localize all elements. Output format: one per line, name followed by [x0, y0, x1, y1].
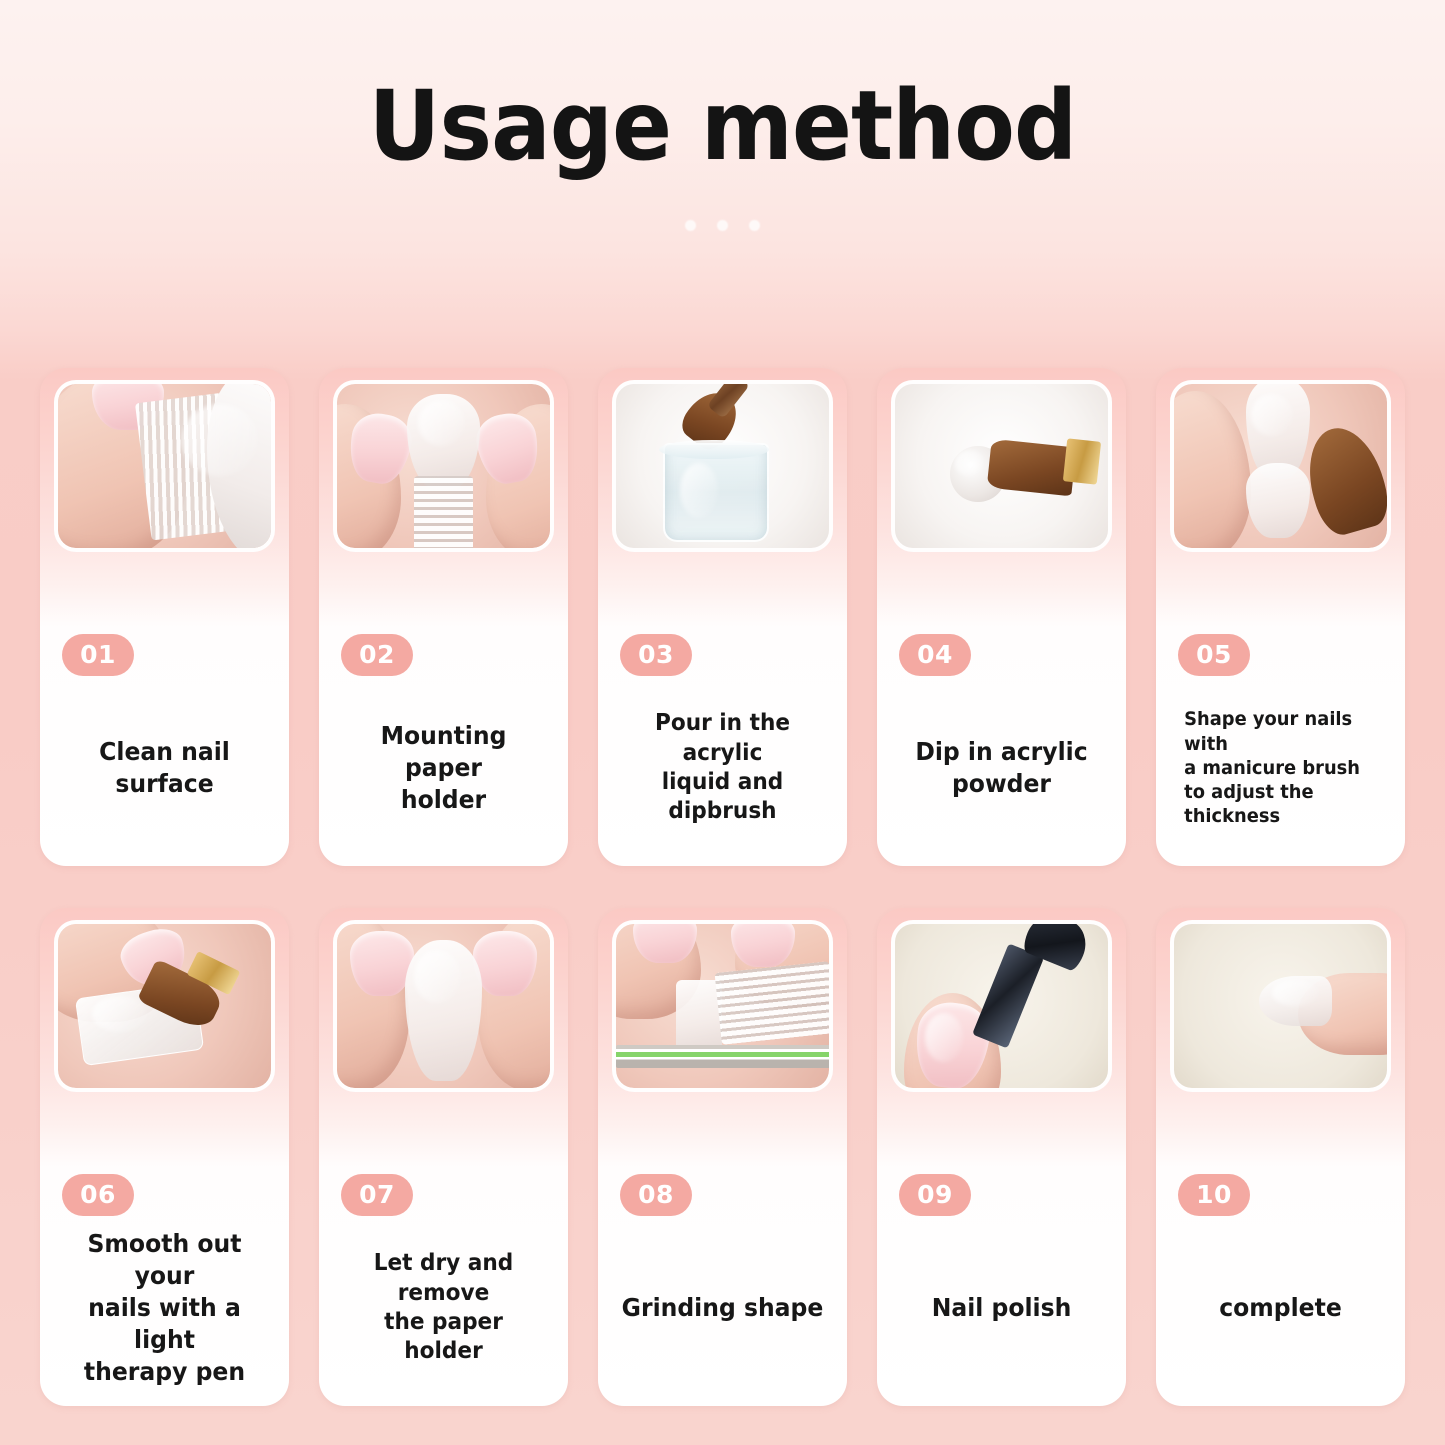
step-caption: complete — [1177, 1248, 1385, 1368]
step-image-08 — [612, 920, 833, 1092]
nail-polish-brush-photo — [895, 924, 1108, 1088]
step-caption: Grinding shape — [619, 1248, 827, 1368]
light-therapy-pen-photo — [58, 924, 271, 1088]
step-number-badge: 02 — [341, 634, 413, 676]
step-card-01[interactable]: 01 Clean nail surface — [40, 368, 289, 866]
step-caption: Mounting paper holder — [340, 708, 548, 828]
step-image-03 — [612, 380, 833, 552]
step-caption: Nail polish — [898, 1248, 1106, 1368]
finished-nail-photo — [1174, 924, 1387, 1088]
dot-icon — [749, 220, 760, 231]
step-number-badge: 05 — [1178, 634, 1250, 676]
dot-icon — [685, 220, 696, 231]
step-card-06[interactable]: 06 Smooth out your nails with a light th… — [40, 908, 289, 1406]
step-image-04 — [891, 380, 1112, 552]
step-caption: Let dry and remove the paper holder — [340, 1248, 548, 1368]
step-number-badge: 10 — [1178, 1174, 1250, 1216]
step-number-badge: 04 — [899, 634, 971, 676]
step-image-02 — [333, 380, 554, 552]
step-image-06 — [54, 920, 275, 1092]
step-image-07 — [333, 920, 554, 1092]
step-image-10 — [1170, 920, 1391, 1092]
step-card-02[interactable]: 02 Mounting paper holder — [319, 368, 568, 866]
step-number-badge: 01 — [62, 634, 134, 676]
paper-form-mounting-photo — [337, 384, 550, 548]
step-number-badge: 06 — [62, 1174, 134, 1216]
page-header: Usage method — [0, 0, 1445, 360]
step-card-07[interactable]: 07 Let dry and remove the paper holder — [319, 908, 568, 1406]
step-caption: Shape your nails with a manicure brush t… — [1177, 708, 1385, 828]
step-caption: Dip in acrylic powder — [898, 708, 1106, 828]
step-number-badge: 07 — [341, 1174, 413, 1216]
acrylic-liquid-dish-photo — [616, 384, 829, 548]
step-card-04[interactable]: 04 Dip in acrylic powder — [877, 368, 1126, 866]
usage-method-page: Usage method 01 Clean nail surface — [0, 0, 1445, 1445]
remove-paper-holder-photo — [337, 924, 550, 1088]
step-caption: Pour in the acrylic liquid and dipbrush — [619, 708, 827, 828]
step-card-08[interactable]: 08 Grinding shape — [598, 908, 847, 1406]
step-card-05[interactable]: 05 Shape your nails with a manicure brus… — [1156, 368, 1405, 866]
page-title: Usage method — [58, 0, 1387, 174]
step-card-09[interactable]: 09 Nail polish — [877, 908, 1126, 1406]
step-number-badge: 03 — [620, 634, 692, 676]
nail-brush-cleaning-photo — [58, 384, 271, 548]
step-number-badge: 08 — [620, 1174, 692, 1216]
step-image-05 — [1170, 380, 1391, 552]
nail-file-grinding-photo — [616, 924, 829, 1088]
step-number-badge: 09 — [899, 1174, 971, 1216]
steps-grid: 01 Clean nail surface 02 Mounting paper … — [40, 368, 1405, 1406]
step-image-09 — [891, 920, 1112, 1092]
acrylic-powder-dip-photo — [895, 384, 1108, 548]
decorative-dots — [0, 220, 1445, 231]
step-image-01 — [54, 380, 275, 552]
step-caption: Clean nail surface — [61, 708, 269, 828]
step-card-03[interactable]: 03 Pour in the acrylic liquid and dipbru… — [598, 368, 847, 866]
step-caption: Smooth out your nails with a light thera… — [61, 1248, 269, 1368]
dot-icon — [717, 220, 728, 231]
shaping-nail-brush-photo — [1174, 384, 1387, 548]
step-card-10[interactable]: 10 complete — [1156, 908, 1405, 1406]
